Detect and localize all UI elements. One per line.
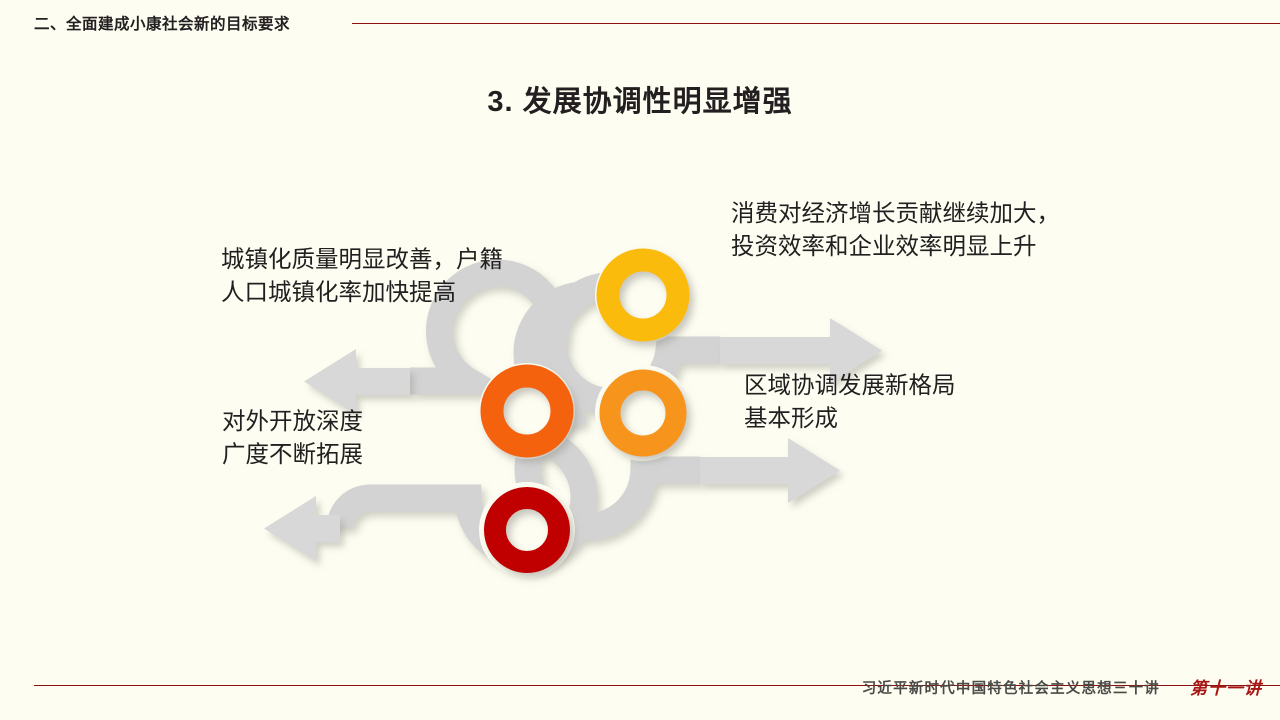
footer-lecture-badge: 第十一讲	[1190, 674, 1262, 699]
page-title: 3. 发展协调性明显增强	[0, 78, 1280, 120]
callout-middle-right: 区域协调发展新格局 基本形成	[744, 369, 956, 436]
slide-canvas: 二、全面建成小康社会新的目标要求 3. 发展协调性明显增强	[0, 0, 1280, 720]
footer-series-title: 习近平新时代中国特色社会主义思想三十讲	[862, 677, 1160, 698]
arrow-bottom-left-icon	[264, 496, 340, 561]
slide-header: 二、全面建成小康社会新的目标要求	[0, 12, 1280, 46]
callout-bottom-left: 对外开放深度 广度不断拓展	[222, 405, 363, 472]
header-divider	[352, 23, 1280, 24]
arrow-middle-right-icon	[700, 438, 840, 503]
callout-top-left: 城镇化质量明显改善，户籍 人口城镇化率加快提高	[221, 243, 503, 310]
callout-top-right: 消费对经济增长贡献继续加大， 投资效率和企业效率明显上升	[731, 197, 1060, 264]
section-heading: 二、全面建成小康社会新的目标要求	[34, 12, 290, 34]
